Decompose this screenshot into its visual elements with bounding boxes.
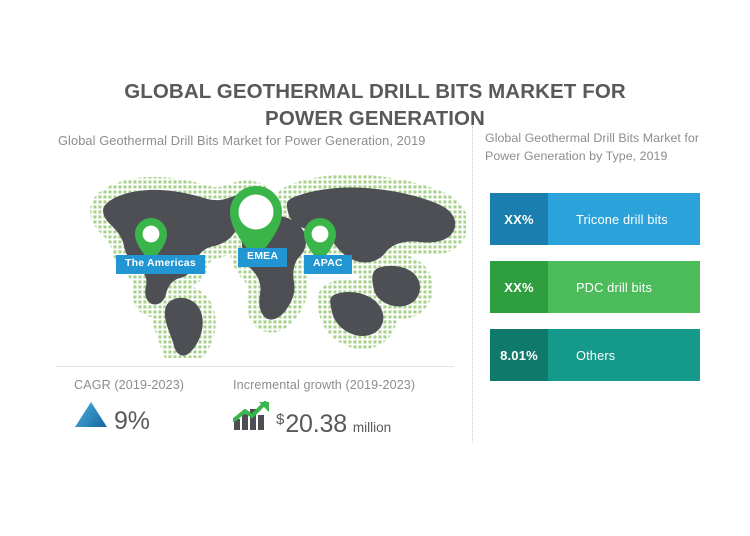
map-label-apac[interactable]: APAC	[304, 255, 352, 274]
growth-chart-icon	[233, 401, 271, 437]
stat-cagr-label: CAGR (2019-2023)	[74, 378, 184, 392]
bar-tricone-drill-bits[interactable]: XX% Tricone drill bits	[490, 193, 700, 245]
vertical-divider	[472, 126, 473, 442]
up-triangle-icon	[74, 401, 108, 434]
infographic-root: GLOBAL GEOTHERMAL DRILL BITS MARKET FOR …	[0, 0, 750, 536]
horizontal-divider	[56, 366, 454, 367]
stat-incremental-growth: Incremental growth (2019-2023) $ 20.38 m…	[233, 378, 415, 437]
map-label-emea[interactable]: EMEA	[238, 248, 287, 267]
bar-others[interactable]: 8.01% Others	[490, 329, 700, 381]
stat-cagr-value: 9%	[114, 409, 150, 434]
bar-pdc-label: PDC drill bits	[548, 261, 700, 313]
bar-others-value: 8.01%	[490, 329, 548, 381]
bar-tricone-value: XX%	[490, 193, 548, 245]
stat-cagr: CAGR (2019-2023) 9%	[74, 378, 184, 434]
map-label-the-americas[interactable]: The Americas	[116, 255, 205, 274]
right-panel-title: Global Geothermal Drill Bits Market for …	[485, 129, 707, 166]
bar-others-label: Others	[548, 329, 700, 381]
page-title: GLOBAL GEOTHERMAL DRILL BITS MARKET FOR …	[95, 78, 655, 132]
currency-symbol: $	[276, 411, 284, 437]
bar-tricone-label: Tricone drill bits	[548, 193, 700, 245]
bar-pdc-value: XX%	[490, 261, 548, 313]
type-breakdown-chart: XX% Tricone drill bits XX% PDC drill bit…	[490, 193, 700, 397]
stat-incremental-growth-value: 20.38	[285, 412, 347, 437]
bar-pdc-drill-bits[interactable]: XX% PDC drill bits	[490, 261, 700, 313]
stat-incremental-growth-unit: million	[353, 420, 391, 437]
stat-incremental-growth-label: Incremental growth (2019-2023)	[233, 378, 415, 392]
left-panel-subtitle: Global Geothermal Drill Bits Market for …	[58, 133, 426, 148]
